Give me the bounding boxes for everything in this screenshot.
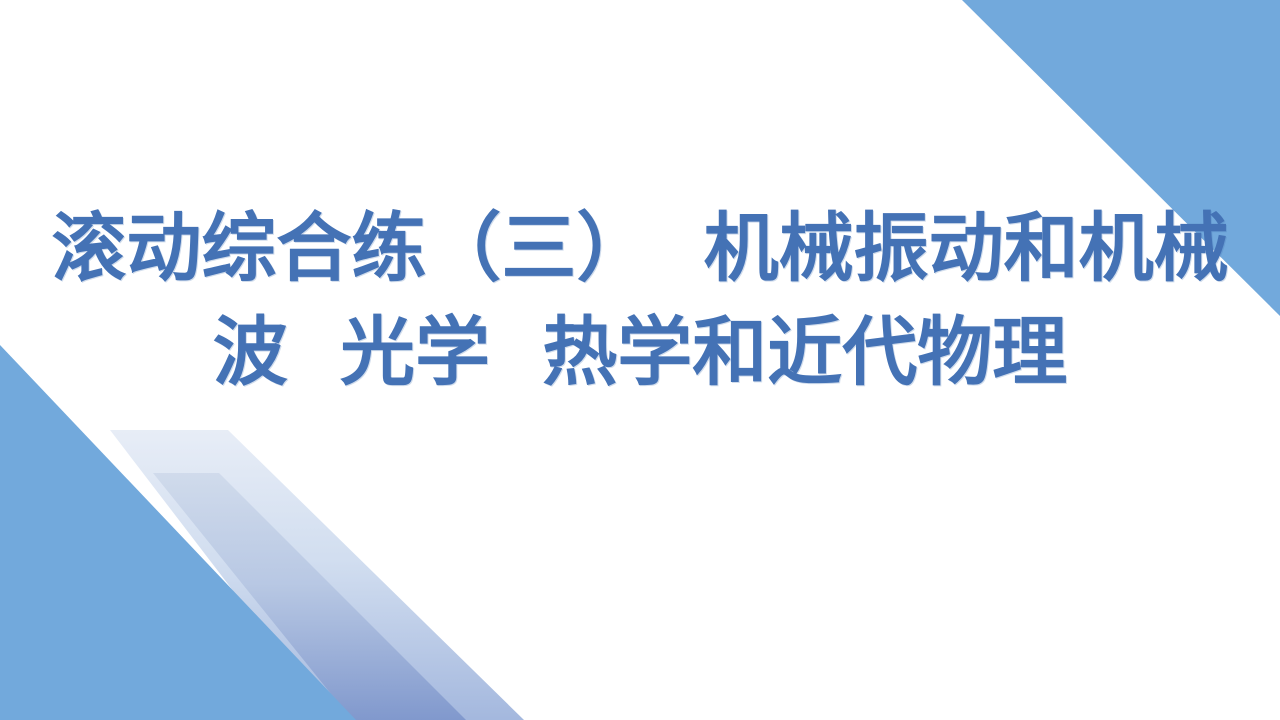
diagonal-band-outer-shape bbox=[110, 430, 524, 720]
slide-title: 滚动综合练（三） 机械振动和机械 波 光学 热学和近代物理 bbox=[0, 196, 1280, 404]
title-line-1: 滚动综合练（三） 机械振动和机械 bbox=[0, 196, 1280, 300]
title-line-2: 波 光学 热学和近代物理 bbox=[0, 300, 1280, 404]
slide-canvas: 滚动综合练（三） 机械振动和机械 波 光学 热学和近代物理 bbox=[0, 0, 1280, 720]
diagonal-band-inner-shape bbox=[153, 473, 466, 720]
